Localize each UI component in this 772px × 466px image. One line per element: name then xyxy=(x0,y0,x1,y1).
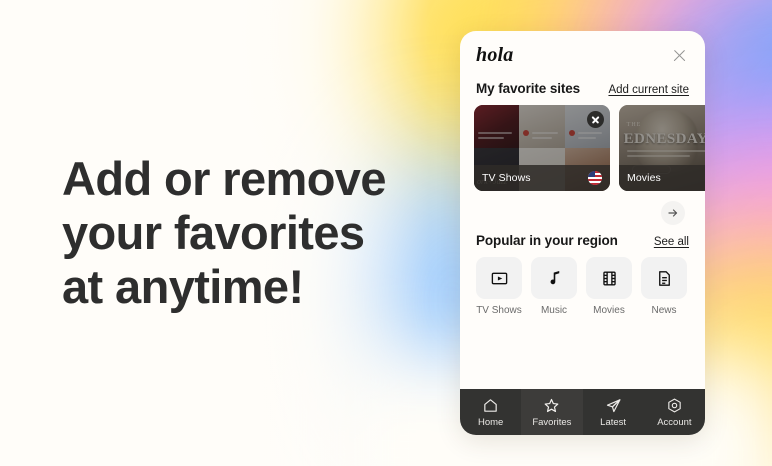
favorites-card-row: ork+Jazz TV Shows xyxy=(460,96,705,191)
nav-item-home[interactable]: Home xyxy=(460,389,521,435)
hexagon-account-icon xyxy=(666,397,683,414)
popular-tile-news[interactable]: News xyxy=(641,257,687,316)
promo-screenshot: Add or remove your favorites at anytime!… xyxy=(0,0,772,466)
nav-label: Account xyxy=(657,417,691,428)
card-label: TV Shows xyxy=(482,172,531,184)
nav-item-account[interactable]: Account xyxy=(644,389,705,435)
star-icon xyxy=(543,397,560,414)
favorite-card[interactable]: THE EDNESDAY Movies xyxy=(619,105,705,191)
see-all-link[interactable]: See all xyxy=(654,236,689,248)
nav-label: Latest xyxy=(600,417,626,428)
tile-label: Movies xyxy=(593,305,625,316)
nav-item-favorites[interactable]: Favorites xyxy=(521,389,582,435)
panel-header: hola xyxy=(460,31,705,67)
music-note-icon xyxy=(531,257,577,299)
popular-tiles: TV Shows Music xyxy=(460,248,705,316)
card-footer: TV Shows xyxy=(474,165,610,191)
popular-title: Popular in your region xyxy=(476,233,618,248)
close-icon[interactable] xyxy=(671,47,689,65)
nav-item-latest[interactable]: Latest xyxy=(583,389,644,435)
home-icon xyxy=(482,397,499,414)
tile-label: TV Shows xyxy=(476,305,522,316)
play-box-icon xyxy=(476,257,522,299)
document-icon xyxy=(641,257,687,299)
film-strip-icon xyxy=(586,257,632,299)
popular-tile-movies[interactable]: Movies xyxy=(586,257,632,316)
panel-body: hola My favorite sites Add current site xyxy=(460,31,705,389)
card-label: Movies xyxy=(627,172,661,184)
nav-label: Favorites xyxy=(532,417,571,428)
us-flag-icon xyxy=(588,171,602,185)
add-current-site-link[interactable]: Add current site xyxy=(608,84,689,96)
remove-favorite-icon[interactable] xyxy=(587,111,604,128)
hola-logo: hola xyxy=(476,44,513,67)
popular-section-header: Popular in your region See all xyxy=(460,225,705,248)
app-panel: hola My favorite sites Add current site xyxy=(460,31,705,435)
bottom-nav: Home Favorites Latest xyxy=(460,389,705,435)
nav-label: Home xyxy=(478,417,503,428)
paper-plane-icon xyxy=(605,397,622,414)
tile-label: News xyxy=(651,305,676,316)
favorites-section-header: My favorite sites Add current site xyxy=(460,67,705,96)
popular-tile-tv-shows[interactable]: TV Shows xyxy=(476,257,522,316)
tile-label: Music xyxy=(541,305,567,316)
favorites-title: My favorite sites xyxy=(476,81,580,96)
popular-tile-music[interactable]: Music xyxy=(531,257,577,316)
headline: Add or remove your favorites at anytime! xyxy=(62,152,462,314)
carousel-controls xyxy=(460,191,705,225)
favorite-card[interactable]: ork+Jazz TV Shows xyxy=(474,105,610,191)
arrow-right-icon[interactable] xyxy=(661,201,685,225)
card-footer: Movies xyxy=(619,165,705,191)
